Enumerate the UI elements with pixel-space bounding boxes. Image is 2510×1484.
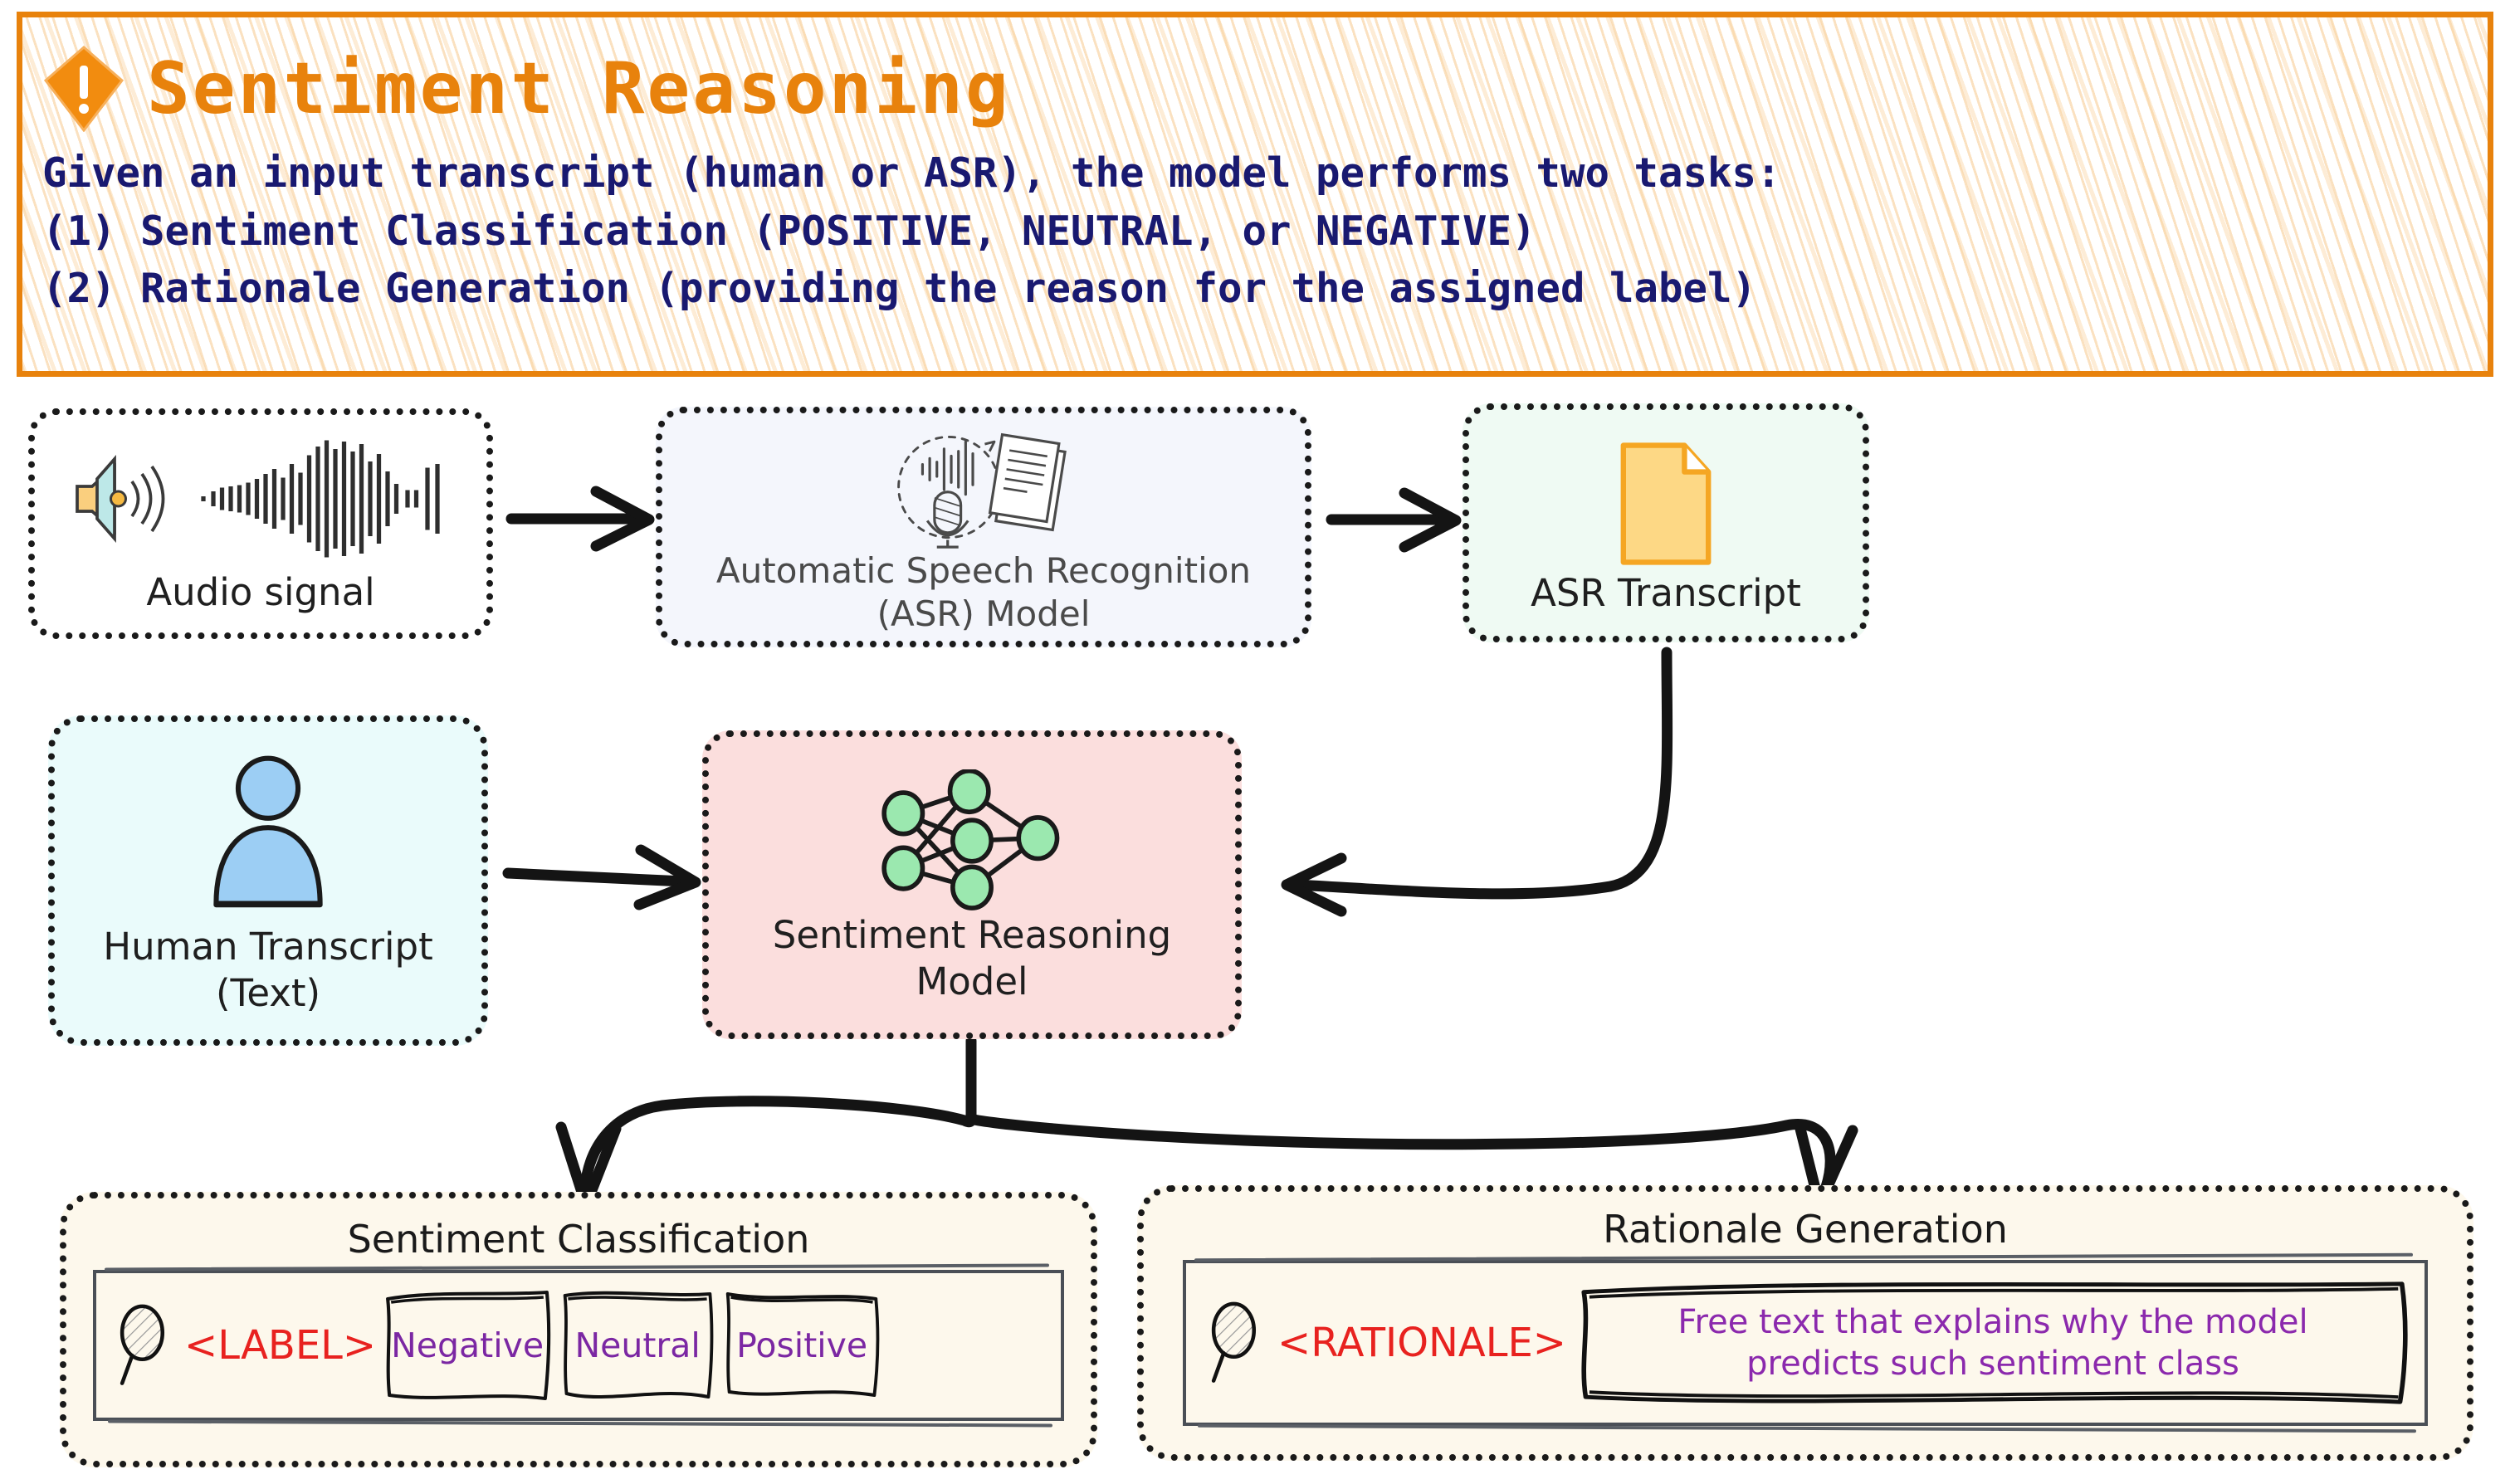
node-sentiment-classification[interactable]: Sentiment Classification <LABEL> Negativ… — [60, 1192, 1097, 1467]
neural-network-icon — [860, 769, 1084, 912]
asr-transcript-label: ASR Transcript — [1531, 570, 1801, 617]
description-line-3: (2) Rationale Generation (providing the … — [42, 262, 2466, 315]
rationale-generation-title: Rationale Generation — [1603, 1207, 2008, 1252]
human-transcript-label-line2: (Text) — [216, 970, 320, 1017]
title-row: Sentiment Reasoning — [42, 36, 2466, 142]
audio-signal-label: Audio signal — [35, 569, 486, 616]
magnifier-icon — [1206, 1297, 1269, 1389]
asr-model-label-line2: (ASR) Model — [877, 593, 1091, 636]
human-transcript-label-line1: Human Transcript — [103, 924, 432, 970]
magnifier-icon — [115, 1300, 178, 1391]
free-text-content: Free text that explains why the model pr… — [1677, 1301, 2307, 1385]
speaker-icon — [60, 437, 184, 561]
arrow-transcript-to-model — [1287, 652, 1668, 911]
node-audio-signal[interactable]: Audio signal — [28, 408, 493, 639]
person-icon — [181, 754, 355, 924]
asr-model-label-line1: Automatic Speech Recognition — [716, 549, 1251, 593]
node-human-transcript[interactable]: Human Transcript (Text) — [48, 715, 488, 1046]
header-banner: Sentiment Reasoning Given an input trans… — [17, 12, 2493, 377]
description-line-1: Given an input transcript (human or ASR)… — [42, 147, 2466, 200]
node-rationale-generation[interactable]: Rationale Generation <RATIONALE> — [1137, 1185, 2473, 1461]
chip-negative[interactable]: Negative — [383, 1287, 552, 1403]
waveform-icon — [196, 437, 470, 561]
sentiment-model-label-line1: Sentiment Reasoning — [773, 912, 1172, 959]
rationale-generation-panel: <RATIONALE> Free text that explains why … — [1183, 1260, 2428, 1426]
document-icon — [1612, 437, 1720, 570]
rationale-tag: <RATIONALE> — [1277, 1320, 1566, 1366]
node-asr-model[interactable]: Automatic Speech Recognition (ASR) Model — [656, 407, 1311, 647]
description-line-2: (1) Sentiment Classification (POSITIVE, … — [42, 205, 2466, 258]
label-tag: <LABEL> — [184, 1322, 376, 1369]
node-asr-transcript[interactable]: ASR Transcript — [1463, 403, 1869, 642]
sentiment-classification-panel: <LABEL> Negative Neutral — [93, 1270, 1064, 1421]
microphone-document-icon — [880, 425, 1087, 549]
free-text-line2: predicts such sentiment class — [1746, 1345, 2239, 1383]
chip-negative-label: Negative — [391, 1325, 544, 1365]
free-text-line1: Free text that explains why the model — [1677, 1303, 2307, 1341]
chip-neutral[interactable]: Neutral — [559, 1287, 716, 1403]
chip-neutral-label: Neutral — [574, 1325, 700, 1365]
arrow-audio-to-asr — [511, 491, 649, 546]
chip-positive-label: Positive — [736, 1325, 867, 1365]
arrow-asr-to-transcript — [1331, 493, 1456, 547]
arrow-human-to-model — [508, 850, 696, 905]
diagram-canvas: Sentiment Reasoning Given an input trans… — [0, 0, 2510, 1484]
arrow-model-to-outputs — [561, 1041, 1853, 1205]
sentiment-classification-title: Sentiment Classification — [348, 1217, 810, 1262]
sentiment-model-label-line2: Model — [916, 959, 1028, 1005]
node-sentiment-reasoning-model[interactable]: Sentiment Reasoning Model — [702, 730, 1242, 1039]
chip-positive[interactable]: Positive — [723, 1287, 881, 1403]
free-text-box[interactable]: Free text that explains why the model pr… — [1575, 1277, 2411, 1408]
page-title: Sentiment Reasoning — [147, 53, 1011, 124]
warning-diamond-icon — [42, 46, 125, 132]
